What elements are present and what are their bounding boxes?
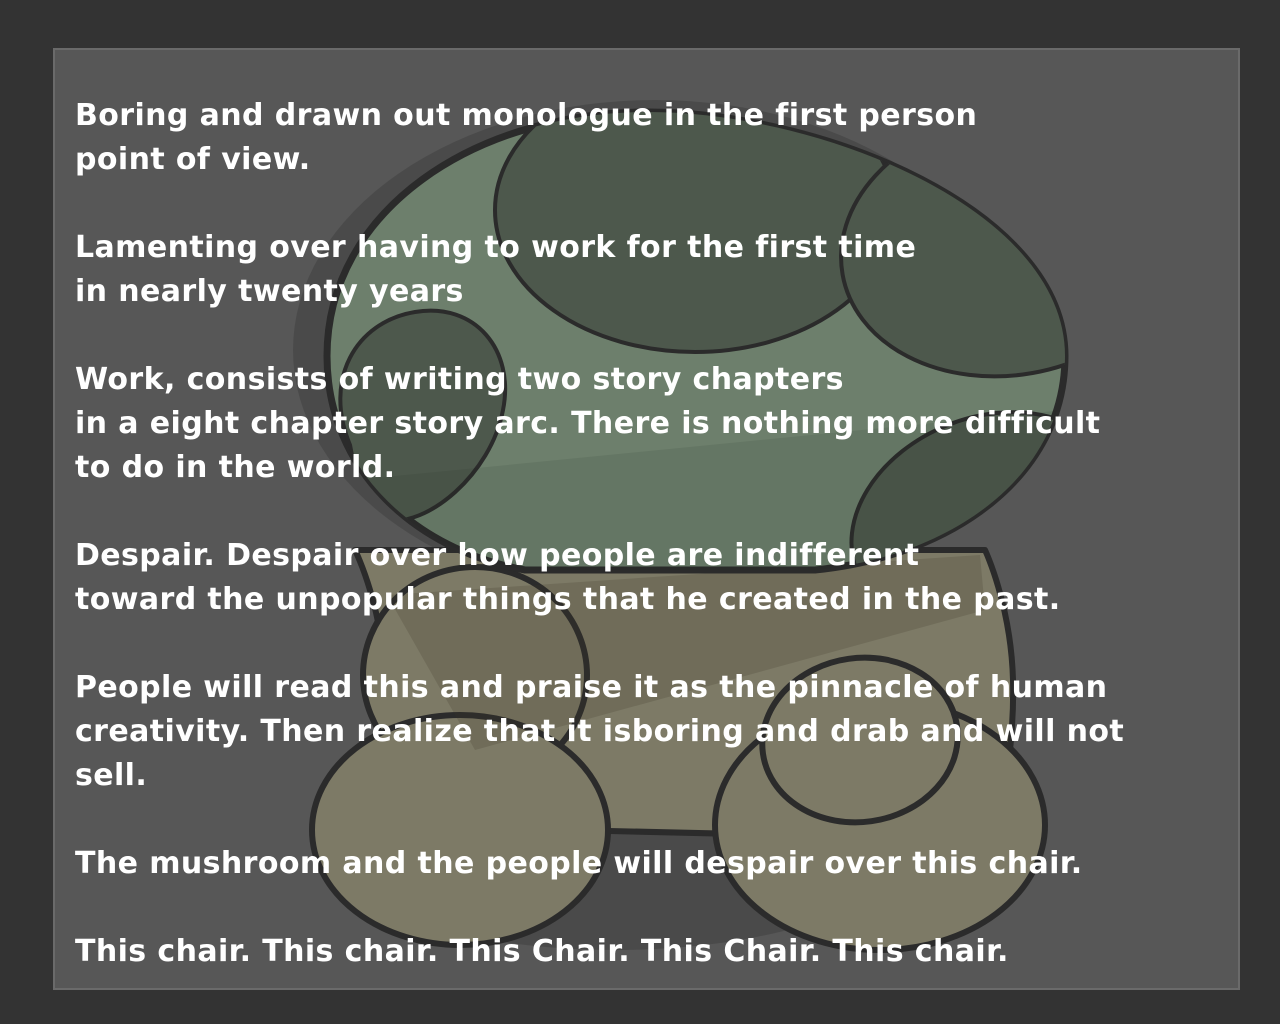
paragraph-4: Despair. Despair over how people are ind… <box>75 534 1224 622</box>
paragraph-2: Lamenting over having to work for the fi… <box>75 226 1224 314</box>
monologue-panel: Boring and drawn out monologue in the fi… <box>53 48 1240 990</box>
paragraph-1: Boring and drawn out monologue in the fi… <box>75 94 1224 182</box>
paragraph-5: People will read this and praise it as t… <box>75 666 1224 798</box>
monologue-text: Boring and drawn out monologue in the fi… <box>55 50 1240 990</box>
paragraph-6: The mushroom and the people will despair… <box>75 842 1224 886</box>
screen-root: Boring and drawn out monologue in the fi… <box>0 0 1280 1024</box>
paragraph-3: Work, consists of writing two story chap… <box>75 358 1224 490</box>
paragraph-7: This chair. This chair. This Chair. This… <box>75 930 1224 974</box>
